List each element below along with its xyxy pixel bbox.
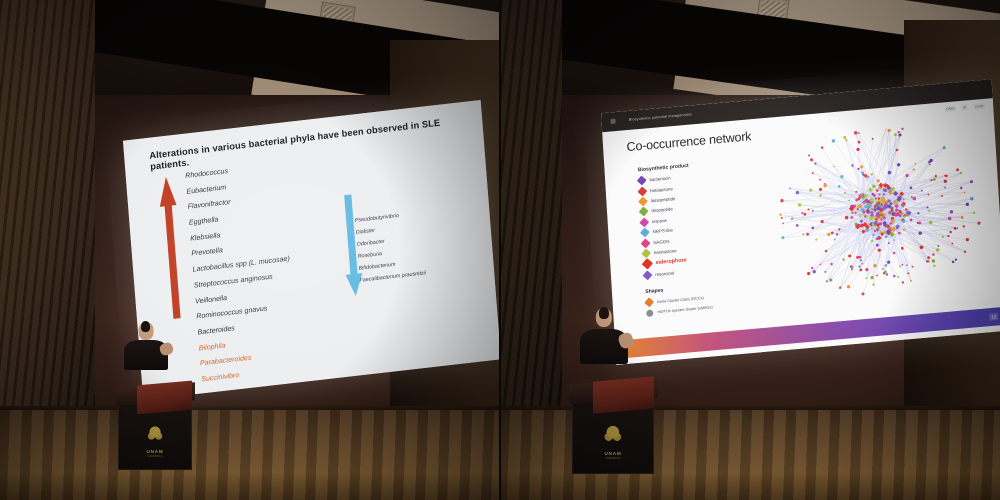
decreased-taxa-list: Pseudobutyrivibrio Dialister Odoribacter… <box>355 204 489 290</box>
page-number: 12 <box>989 313 998 321</box>
unam-seal: UNAM JURIDICA <box>135 421 175 458</box>
left-wall <box>500 0 562 440</box>
shape-label: mOTUs species cluster (sMAGs) <box>657 305 712 314</box>
diamond-marker-icon <box>640 228 650 238</box>
diamond-marker-icon <box>639 207 649 217</box>
viewer-toolbar[interactable]: 100% fit zoom <box>944 102 986 112</box>
speaker-hair <box>142 321 151 332</box>
diamond-marker-icon <box>637 176 647 186</box>
slide-co-occurrence-network: Biosynthetic potential metagenomic 100% … <box>601 79 1000 365</box>
speaker-right <box>580 308 628 364</box>
window-menu-icon[interactable] <box>611 119 616 124</box>
legend-label: thiopeptide <box>651 207 673 214</box>
legend-label: lassopeptide <box>651 196 676 203</box>
podium-desktop <box>593 376 654 413</box>
podium-left: UNAM JURIDICA <box>118 358 192 470</box>
legend-label: resorcinol <box>655 270 674 277</box>
toolbar-zoom-level[interactable]: 100% <box>944 105 957 112</box>
window-title: Biosynthetic potential metagenomic <box>629 113 692 123</box>
speaker-left <box>124 322 168 370</box>
left-photo-panel: Alterations in various bacterial phyla h… <box>0 0 500 500</box>
screen-surface: Biosynthetic potential metagenomic 100% … <box>601 79 1000 365</box>
unam-coat-of-arms-icon <box>143 421 168 447</box>
legend-label: siderophore <box>655 258 686 267</box>
diamond-marker-icon <box>642 258 653 269</box>
panel-divider <box>499 0 501 500</box>
diamond-marker-icon <box>643 270 653 280</box>
projection-screen-right: Biosynthetic potential metagenomic 100% … <box>601 79 1000 365</box>
legend-label: bacteriocin <box>649 176 670 183</box>
legend-label: betalactone <box>650 186 673 193</box>
diamond-marker-icon <box>638 196 648 206</box>
network-legend: Biosynthetic product bacteriocin betalac… <box>638 156 772 320</box>
toolbar-fit-button[interactable]: fit <box>961 104 968 111</box>
screen-surface: Alterations in various bacterial phyla h… <box>123 100 500 400</box>
podium-right: UNAM JURIDICA <box>572 352 654 474</box>
slide2-title: Co-occurrence network <box>626 129 751 154</box>
increase-arrow-icon <box>156 174 185 321</box>
conference-photo-pair: Alterations in various bacterial phyla h… <box>0 0 1000 500</box>
legend-label: NAGGN <box>653 238 669 244</box>
diamond-marker-icon <box>642 248 652 258</box>
diamond-shape-icon <box>645 298 655 308</box>
unam-seal-subtext: JURIDICA <box>591 456 635 460</box>
speaker-head <box>139 322 154 340</box>
legend-label: hserlactone <box>654 248 677 255</box>
speaker-head <box>596 308 612 327</box>
diamond-marker-icon <box>641 238 651 248</box>
speaker-hair <box>599 307 609 319</box>
diamond-marker-icon <box>638 186 648 196</box>
legend-label: terpene <box>652 218 667 224</box>
stage-floor <box>0 410 500 500</box>
increased-taxa-list: Rhodococcus Eubacterium Flavonifractor E… <box>185 154 367 392</box>
shape-label: Gene Cluster Clans (GCCs) <box>657 296 704 304</box>
toolbar-zoom-button[interactable]: zoom <box>973 102 986 109</box>
unam-seal: UNAM JURIDICA <box>591 420 635 460</box>
podium-desktop <box>137 380 192 414</box>
network-graph <box>764 120 997 306</box>
slide-alterations-bacterial-phyla: Alterations in various bacterial phyla h… <box>123 100 500 400</box>
legend-label: NRPS-like <box>653 228 673 235</box>
unam-coat-of-arms-icon <box>599 420 626 449</box>
left-stone-wall <box>0 0 95 440</box>
projection-screen-left: Alterations in various bacterial phyla h… <box>123 100 500 400</box>
diamond-marker-icon <box>640 217 650 227</box>
right-photo-panel: Biosynthetic potential metagenomic 100% … <box>500 0 1000 500</box>
unam-seal-subtext: JURIDICA <box>135 454 175 458</box>
circle-shape-icon <box>646 309 653 317</box>
